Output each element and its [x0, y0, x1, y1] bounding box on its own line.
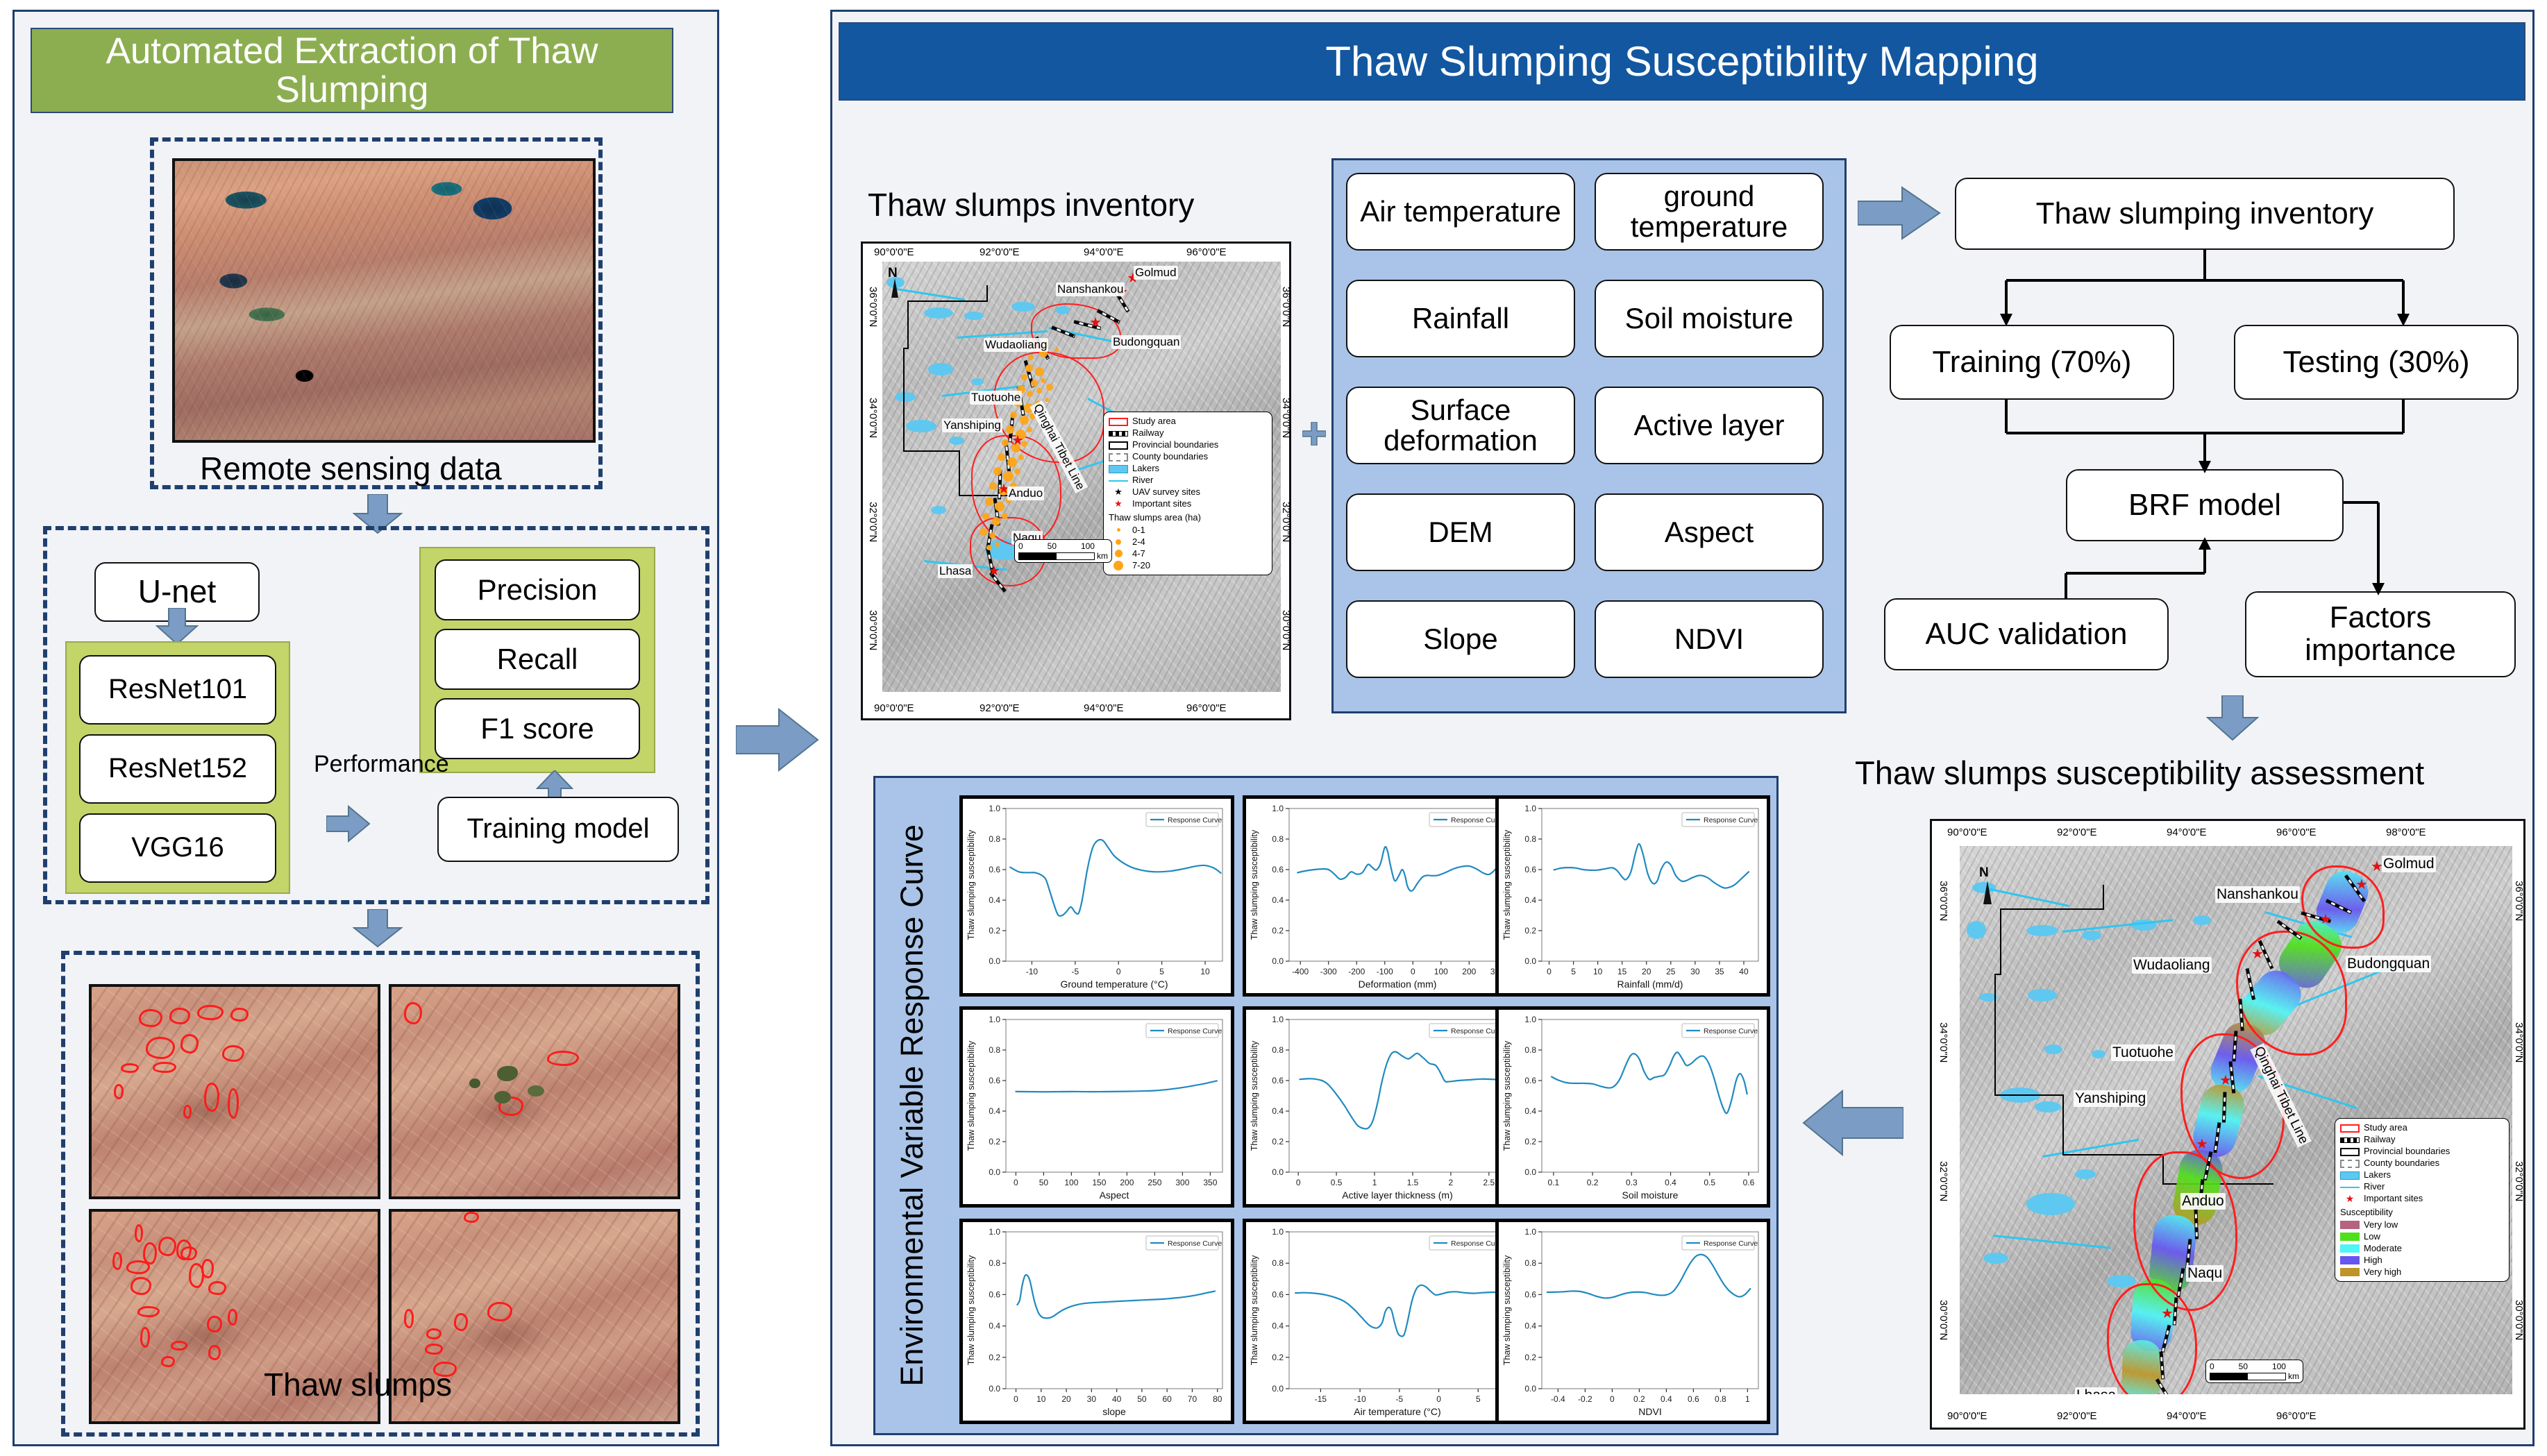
scale-tick: 0 [2210, 1362, 2214, 1371]
lon-tick: 94°0'0"E [2167, 1410, 2207, 1422]
plus-icon [1302, 422, 1326, 446]
svg-text:0: 0 [1610, 1394, 1615, 1404]
svg-text:30: 30 [1087, 1394, 1097, 1404]
svg-text:0.2: 0.2 [1524, 1137, 1536, 1146]
lat-tick: 34°0'0"N [2513, 1022, 2525, 1063]
svg-text:1: 1 [1745, 1394, 1750, 1404]
svg-text:NDVI: NDVI [1638, 1406, 1661, 1417]
legend-label: 0-1 [1132, 524, 1145, 536]
lon-tick: 98°0'0"E [2386, 827, 2426, 838]
place-label: Budongquan [2346, 956, 2431, 972]
svg-text:0.2: 0.2 [989, 1353, 1000, 1362]
svg-text:250: 250 [1148, 1178, 1161, 1187]
svg-text:0.0: 0.0 [1272, 1384, 1284, 1394]
arrow-right-to-training [326, 805, 371, 843]
svg-text:0.4: 0.4 [1524, 1106, 1536, 1116]
svg-text:0.0: 0.0 [989, 956, 1000, 966]
assessment-section-title: Thaw slumps susceptibility assessment [1855, 754, 2424, 792]
svg-text:1.0: 1.0 [989, 804, 1000, 813]
svg-text:0.4: 0.4 [1272, 895, 1284, 905]
lat-tick: 32°0'0"N [2513, 1161, 2525, 1201]
svg-text:0: 0 [1436, 1394, 1441, 1404]
place-label: Nanshankou [1056, 282, 1125, 296]
svg-text:0.2: 0.2 [1524, 1353, 1536, 1362]
lat-tick: 32°0'0"N [1280, 502, 1292, 542]
svg-text:0: 0 [1116, 967, 1121, 976]
lat-tick: 36°0'0"N [2513, 881, 2525, 921]
svg-text:Response Curve: Response Curve [1704, 1239, 1758, 1248]
legend-label: County boundaries [2364, 1157, 2439, 1169]
svg-text:0.8: 0.8 [1272, 1045, 1284, 1055]
svg-text:Thaw slumping susceptibility: Thaw slumping susceptibility [966, 1040, 976, 1151]
svg-text:5: 5 [1571, 967, 1576, 976]
lat-tick: 30°0'0"N [2513, 1300, 2525, 1340]
inventory-scale-bar: 0 50 100 km [1014, 539, 1112, 563]
svg-text:0.8: 0.8 [1524, 1258, 1536, 1268]
lon-tick: 90°0'0"E [874, 246, 914, 258]
lat-tick: 30°0'0"N [867, 610, 879, 650]
svg-text:5: 5 [1159, 967, 1164, 976]
svg-text:0.8: 0.8 [1715, 1394, 1726, 1404]
svg-text:0.3: 0.3 [1626, 1178, 1638, 1187]
arrow-left-to-right-panel [736, 708, 819, 772]
performance-label: Performance [314, 751, 449, 778]
response-curve-plot[interactable]: 0.00.20.40.60.81.0-15-10-505Air temperat… [1243, 1219, 1518, 1424]
svg-text:0: 0 [1547, 967, 1552, 976]
place-label: Wudaoliang [2132, 957, 2212, 974]
arrow-flow-to-assessment [2206, 695, 2259, 741]
svg-text:1.0: 1.0 [1272, 804, 1284, 813]
node-f1-score[interactable]: F1 score [435, 698, 640, 759]
place-label: Lhasa [938, 564, 973, 578]
svg-text:15: 15 [1617, 967, 1627, 976]
important-site-star: ★ [2251, 947, 2264, 961]
susceptibility-scale-bar: 0 50 100 km [2205, 1360, 2303, 1383]
left-panel-banner: Automated Extraction of Thaw Slumping [31, 28, 673, 113]
response-curve-plot[interactable]: 0.00.20.40.60.81.0-10-50510Ground temper… [959, 795, 1234, 997]
svg-text:Thaw slumping susceptibility: Thaw slumping susceptibility [1502, 1040, 1512, 1151]
svg-text:0.2: 0.2 [1524, 926, 1536, 936]
response-curves-title: Environmental Variable Response Curve [879, 784, 945, 1427]
response-curve-plot[interactable]: 0.00.20.40.60.81.0-400-300-200-100010020… [1243, 795, 1518, 997]
svg-text:1.0: 1.0 [1272, 1015, 1284, 1024]
lat-tick: 36°0'0"N [867, 287, 879, 327]
flow-node-importance[interactable]: Factors importance [2245, 591, 2516, 677]
scale-unit: km [2288, 1371, 2299, 1381]
svg-text:0: 0 [1296, 1178, 1301, 1187]
svg-text:-15: -15 [1315, 1394, 1327, 1404]
arrow-unet-to-backbones [155, 608, 199, 645]
inventory-map-canvas: ★ ★ ★ ★ ★ ★ ★ N Nanshankou Golmud Wudaol… [882, 262, 1281, 692]
important-site-star: ★ [988, 564, 1000, 578]
svg-text:0.4: 0.4 [989, 895, 1000, 905]
svg-text:200: 200 [1120, 1178, 1134, 1187]
legend-label: 7-20 [1132, 559, 1150, 572]
factor-ndvi[interactable]: NDVI [1595, 600, 1824, 678]
svg-text:300: 300 [1175, 1178, 1189, 1187]
svg-text:-10: -10 [1026, 967, 1039, 976]
svg-text:0: 0 [1411, 967, 1415, 976]
lon-tick: 90°0'0"E [1947, 1410, 1987, 1422]
important-site-star: ★ [1011, 434, 1024, 448]
inventory-map-legend: Study area Railway Provincial boundaries… [1103, 412, 1272, 575]
lon-tick: 90°0'0"E [874, 702, 914, 714]
arrow-map-to-curves [1802, 1090, 1903, 1156]
svg-text:Response Curve: Response Curve [1704, 816, 1758, 824]
svg-text:0.0: 0.0 [1524, 1167, 1536, 1177]
legend-label: Very low [2364, 1219, 2398, 1231]
legend-label: Provincial boundaries [2364, 1145, 2450, 1158]
lon-tick: 90°0'0"E [1947, 827, 1987, 838]
lon-tick: 96°0'0"E [2276, 827, 2317, 838]
svg-text:10: 10 [1200, 967, 1210, 976]
flow-node-training[interactable]: Training (70%) [1890, 325, 2174, 400]
svg-text:Thaw slumping susceptibility: Thaw slumping susceptibility [1250, 1040, 1259, 1151]
factor-ground-temperature[interactable]: ground temperature [1595, 173, 1824, 251]
place-label: Yanshiping [942, 418, 1002, 432]
place-label: Anduo [2180, 1193, 2226, 1210]
svg-text:25: 25 [1666, 967, 1676, 976]
place-label: Golmud [1134, 266, 1178, 280]
svg-text:0.6: 0.6 [989, 1289, 1000, 1299]
svg-text:Response Curve: Response Curve [1168, 1239, 1222, 1248]
legend-label: Important sites [1132, 498, 1191, 510]
svg-text:10: 10 [1036, 1394, 1046, 1404]
lat-tick: 34°0'0"N [1280, 398, 1292, 438]
place-label: Nanshankou [2215, 886, 2300, 903]
svg-text:-5: -5 [1072, 967, 1079, 976]
flow-node-inventory[interactable]: Thaw slumping inventory [1955, 178, 2455, 250]
legend-label: 4-7 [1132, 548, 1145, 560]
lat-tick: 34°0'0"N [867, 398, 879, 438]
svg-text:10: 10 [1593, 967, 1603, 976]
svg-text:1: 1 [1372, 1178, 1377, 1187]
svg-text:0.0: 0.0 [1524, 1384, 1536, 1394]
important-site-star: ★ [2355, 878, 2368, 892]
svg-text:Thaw slumping susceptibility: Thaw slumping susceptibility [1250, 1255, 1259, 1365]
svg-text:20: 20 [1061, 1394, 1071, 1404]
svg-text:0.8: 0.8 [1524, 834, 1536, 844]
svg-text:0.8: 0.8 [989, 1258, 1000, 1268]
important-site-star: ★ [2153, 1391, 2165, 1394]
svg-text:-10: -10 [1354, 1394, 1366, 1404]
place-label: Anduo [1007, 486, 1044, 500]
svg-text:0: 0 [1014, 1178, 1018, 1187]
svg-text:1.0: 1.0 [989, 1227, 1000, 1237]
lat-tick: 30°0'0"N [1280, 610, 1292, 650]
environmental-factors-panel: Air temperature ground temperature Rainf… [1331, 158, 1847, 713]
svg-text:30: 30 [1690, 967, 1700, 976]
factor-air-temperature[interactable]: Air temperature [1346, 173, 1575, 251]
svg-text:0.4: 0.4 [1665, 1178, 1676, 1187]
remote-sensing-image [172, 158, 596, 443]
svg-text:0.6: 0.6 [1272, 1289, 1284, 1299]
factor-active-layer[interactable]: Active layer [1595, 387, 1824, 464]
svg-text:50: 50 [1137, 1394, 1147, 1404]
svg-text:Active layer thickness (m): Active layer thickness (m) [1342, 1190, 1452, 1201]
svg-text:20: 20 [1642, 967, 1651, 976]
lon-tick: 94°0'0"E [1084, 246, 1124, 258]
svg-text:100: 100 [1064, 1178, 1078, 1187]
place-label: Naqu [2186, 1265, 2224, 1282]
lon-tick: 92°0'0"E [980, 702, 1020, 714]
flow-node-auc[interactable]: AUC validation [1884, 598, 2169, 670]
svg-text:-0.2: -0.2 [1578, 1394, 1592, 1404]
factor-dem[interactable]: DEM [1346, 493, 1575, 571]
legend-label: High [2364, 1254, 2382, 1267]
lon-tick: 94°0'0"E [1084, 702, 1124, 714]
lat-tick: 30°0'0"N [1937, 1300, 1949, 1340]
svg-text:0.6: 0.6 [1743, 1178, 1755, 1187]
factor-soil-moisture[interactable]: Soil moisture [1595, 280, 1824, 357]
svg-text:35: 35 [1715, 967, 1724, 976]
important-site-star: ★ [2319, 913, 2332, 926]
svg-text:0.4: 0.4 [989, 1106, 1000, 1116]
right-panel-banner: Thaw Slumping Susceptibility Mapping [839, 22, 2525, 101]
lon-tick: 96°0'0"E [2276, 1410, 2317, 1422]
legend-label: 2-4 [1132, 536, 1145, 548]
lon-tick: 92°0'0"E [2057, 827, 2097, 838]
node-training-model[interactable]: Training model [437, 797, 679, 862]
lat-tick: 32°0'0"N [1937, 1161, 1949, 1201]
svg-text:0.5: 0.5 [1704, 1178, 1715, 1187]
svg-text:0.8: 0.8 [989, 1045, 1000, 1055]
legend-label: Low [2364, 1230, 2380, 1243]
svg-text:0.8: 0.8 [1524, 1045, 1536, 1055]
svg-text:0.6: 0.6 [1272, 1076, 1284, 1085]
legend-label: Provincial boundaries [1132, 439, 1218, 451]
susceptibility-map-canvas: ★ ★ ★ ★ ★ ★ ★ ★ N Nanshankou Golmud Wuda… [1960, 846, 2512, 1394]
svg-text:1.0: 1.0 [1272, 1227, 1284, 1237]
important-site-star: ★ [2196, 1137, 2208, 1151]
place-label: Tuotuohe [970, 391, 1022, 405]
svg-text:0.6: 0.6 [989, 865, 1000, 874]
scale-unit: km [1097, 551, 1108, 561]
scale-tick: 100 [1081, 541, 1095, 551]
legend-label: County boundaries [1132, 450, 1208, 463]
svg-text:-5: -5 [1396, 1394, 1404, 1404]
svg-text:Thaw slumping susceptibility: Thaw slumping susceptibility [1250, 829, 1259, 940]
svg-text:200: 200 [1462, 967, 1476, 976]
place-label: Tuotuohe [2111, 1044, 2175, 1061]
svg-text:0.2: 0.2 [1272, 1353, 1284, 1362]
scale-tick: 50 [1048, 541, 1057, 551]
legend-label: Moderate [2364, 1242, 2402, 1255]
lon-tick: 94°0'0"E [2167, 827, 2207, 838]
svg-text:0.4: 0.4 [1524, 1321, 1536, 1331]
svg-text:Ground temperature (°C): Ground temperature (°C) [1061, 979, 1168, 990]
svg-text:0.2: 0.2 [1633, 1394, 1645, 1404]
svg-text:0.8: 0.8 [989, 834, 1000, 844]
legend-label: Lakers [1132, 462, 1159, 475]
svg-text:0.8: 0.8 [1272, 834, 1284, 844]
svg-text:0.6: 0.6 [1272, 865, 1284, 874]
legend-label: UAV survey sites [1132, 486, 1200, 498]
svg-text:Aspect: Aspect [1100, 1190, 1129, 1201]
svg-text:0.0: 0.0 [989, 1384, 1000, 1394]
lon-tick: 96°0'0"E [1186, 246, 1227, 258]
legend-label: Important sites [2364, 1192, 2423, 1205]
svg-text:0.2: 0.2 [1587, 1178, 1599, 1187]
svg-text:50: 50 [1039, 1178, 1049, 1187]
svg-text:Thaw slumping susceptibility: Thaw slumping susceptibility [1502, 1255, 1512, 1365]
response-curve-plot[interactable]: 0.00.20.40.60.81.00510152025303540Rainfa… [1495, 795, 1770, 997]
response-curve-plot[interactable]: 0.00.20.40.60.81.000.511.522.5Active lay… [1243, 1006, 1518, 1208]
svg-text:-300: -300 [1320, 967, 1337, 976]
place-label: Budongquan [1111, 335, 1181, 349]
svg-text:40: 40 [1112, 1394, 1122, 1404]
svg-text:1.5: 1.5 [1407, 1178, 1419, 1187]
svg-text:0.0: 0.0 [1272, 1167, 1284, 1177]
thaw-slump-tile [389, 984, 680, 1199]
legend-label: Railway [1132, 427, 1164, 439]
svg-text:0.8: 0.8 [1272, 1258, 1284, 1268]
svg-text:0.4: 0.4 [989, 1321, 1000, 1331]
svg-text:Thaw slumping susceptibility: Thaw slumping susceptibility [966, 1255, 976, 1365]
flow-node-brf-model[interactable]: BRF model [2066, 469, 2344, 541]
svg-text:350: 350 [1203, 1178, 1217, 1187]
svg-text:60: 60 [1163, 1394, 1172, 1404]
svg-text:0.6: 0.6 [1688, 1394, 1699, 1404]
important-site-star: ★ [1089, 316, 1102, 330]
svg-text:1.0: 1.0 [1524, 1015, 1536, 1024]
important-site-star: ★ [2219, 1074, 2232, 1087]
svg-text:-100: -100 [1377, 967, 1393, 976]
legend-label: River [1132, 474, 1153, 486]
svg-text:Response Curve: Response Curve [1168, 1027, 1222, 1035]
svg-text:0.0: 0.0 [989, 1167, 1000, 1177]
svg-text:Response Curve: Response Curve [1168, 816, 1222, 824]
svg-text:0: 0 [1014, 1394, 1018, 1404]
svg-text:150: 150 [1092, 1178, 1106, 1187]
svg-text:0.4: 0.4 [1524, 895, 1536, 905]
svg-text:Rainfall (mm/d): Rainfall (mm/d) [1617, 979, 1683, 990]
thaw-slump-tile [89, 984, 380, 1199]
svg-text:2.5: 2.5 [1483, 1178, 1495, 1187]
thaw-slumps-inventory-map[interactable]: ★ ★ ★ ★ ★ ★ ★ N Nanshankou Golmud Wudaol… [861, 242, 1291, 720]
scale-tick: 0 [1018, 541, 1023, 551]
legend-label: River [2364, 1180, 2385, 1193]
svg-text:Soil moisture: Soil moisture [1622, 1190, 1679, 1201]
svg-text:Deformation (mm): Deformation (mm) [1359, 979, 1437, 990]
legend-susceptibility-title: Susceptibility [2340, 1206, 2504, 1219]
svg-text:Air temperature (°C): Air temperature (°C) [1354, 1406, 1440, 1417]
svg-text:0.0: 0.0 [1272, 956, 1284, 966]
node-recall[interactable]: Recall [435, 629, 640, 690]
svg-text:0.6: 0.6 [1524, 1076, 1536, 1085]
remote-sensing-label: Remote sensing data [200, 450, 502, 487]
svg-text:5: 5 [1476, 1394, 1481, 1404]
svg-text:0.1: 0.1 [1548, 1178, 1560, 1187]
response-curve-plot[interactable]: 0.00.20.40.60.81.00.10.20.30.40.50.6Soil… [1495, 1006, 1770, 1208]
legend-label: Very high [2364, 1266, 2401, 1278]
scale-tick: 50 [2239, 1362, 2248, 1371]
svg-text:40: 40 [1739, 967, 1749, 976]
arrow-down-to-slumps [353, 909, 403, 948]
node-resnet152[interactable]: ResNet152 [79, 734, 276, 804]
svg-text:2: 2 [1449, 1178, 1454, 1187]
susceptibility-map[interactable]: ★ ★ ★ ★ ★ ★ ★ ★ N Nanshankou Golmud Wuda… [1930, 819, 2525, 1430]
thaw-slumps-label: Thaw slumps [264, 1366, 452, 1403]
svg-text:0.4: 0.4 [1272, 1321, 1284, 1331]
response-curve-plot[interactable]: 0.00.20.40.60.81.0-0.4-0.200.20.40.60.81… [1495, 1219, 1770, 1424]
svg-text:-200: -200 [1348, 967, 1365, 976]
svg-text:0.4: 0.4 [1661, 1394, 1672, 1404]
arrow-factors-to-inventory [1858, 186, 1941, 240]
svg-text:1.0: 1.0 [1524, 1227, 1536, 1237]
svg-text:1.0: 1.0 [1524, 804, 1536, 813]
place-label: Wudaoliang [984, 338, 1048, 352]
svg-text:1.0: 1.0 [989, 1015, 1000, 1024]
factor-aspect[interactable]: Aspect [1595, 493, 1824, 571]
svg-text:80: 80 [1213, 1394, 1222, 1404]
svg-text:70: 70 [1188, 1394, 1197, 1404]
legend-size-title: Thaw slumps area (ha) [1109, 511, 1267, 524]
flow-node-testing[interactable]: Testing (30%) [2234, 325, 2519, 400]
response-curve-plot[interactable]: 0.00.20.40.60.81.0050100150200250300350A… [959, 1006, 1234, 1208]
susceptibility-map-legend: Study area Railway Provincial boundaries… [2335, 1118, 2510, 1282]
svg-text:100: 100 [1434, 967, 1448, 976]
place-label: Golmud [2382, 856, 2436, 872]
svg-text:0.2: 0.2 [989, 926, 1000, 936]
legend-label: Lakers [2364, 1169, 2391, 1181]
svg-text:-400: -400 [1292, 967, 1309, 976]
svg-text:0.6: 0.6 [1524, 865, 1536, 874]
svg-text:0.2: 0.2 [1272, 926, 1284, 936]
factor-slope[interactable]: Slope [1346, 600, 1575, 678]
compass-icon: N [1979, 865, 1989, 881]
svg-text:Thaw slumping susceptibility: Thaw slumping susceptibility [1502, 829, 1512, 940]
svg-text:0.4: 0.4 [1272, 1106, 1284, 1116]
legend-label: Study area [1132, 415, 1176, 428]
scale-tick: 100 [2272, 1362, 2286, 1371]
svg-text:0.0: 0.0 [1524, 956, 1536, 966]
important-site-star: ★ [2161, 1307, 2174, 1321]
factor-rainfall[interactable]: Rainfall [1346, 280, 1575, 357]
factor-surface-deformation[interactable]: Surface deformation [1346, 387, 1575, 464]
lat-tick: 36°0'0"N [1937, 881, 1949, 921]
svg-text:0.6: 0.6 [989, 1076, 1000, 1085]
node-vgg16[interactable]: VGG16 [79, 813, 276, 883]
place-label: Yanshiping [2074, 1090, 2147, 1107]
response-curve-plot[interactable]: 0.00.20.40.60.81.001020304050607080slope… [959, 1219, 1234, 1424]
inventory-section-title: Thaw slumps inventory [868, 186, 1194, 223]
svg-text:-0.4: -0.4 [1551, 1394, 1565, 1404]
svg-text:0.2: 0.2 [989, 1137, 1000, 1146]
legend-label: Study area [2364, 1121, 2407, 1134]
legend-label: Railway [2364, 1133, 2396, 1146]
lon-tick: 92°0'0"E [980, 246, 1020, 258]
lon-tick: 92°0'0"E [2057, 1410, 2097, 1422]
place-label: Lhasa [2075, 1387, 2117, 1394]
node-resnet101[interactable]: ResNet101 [79, 655, 276, 725]
svg-text:Response Curve: Response Curve [1704, 1027, 1758, 1035]
svg-text:0.2: 0.2 [1272, 1137, 1284, 1146]
lat-tick: 36°0'0"N [1280, 287, 1292, 327]
svg-text:slope: slope [1102, 1406, 1126, 1417]
lat-tick: 34°0'0"N [1937, 1022, 1949, 1063]
svg-text:0.5: 0.5 [1331, 1178, 1343, 1187]
svg-text:0.6: 0.6 [1524, 1289, 1536, 1299]
node-precision[interactable]: Precision [435, 559, 640, 620]
lat-tick: 32°0'0"N [867, 502, 879, 542]
svg-text:Thaw slumping susceptibility: Thaw slumping susceptibility [966, 829, 976, 940]
lon-tick: 96°0'0"E [1186, 702, 1227, 714]
